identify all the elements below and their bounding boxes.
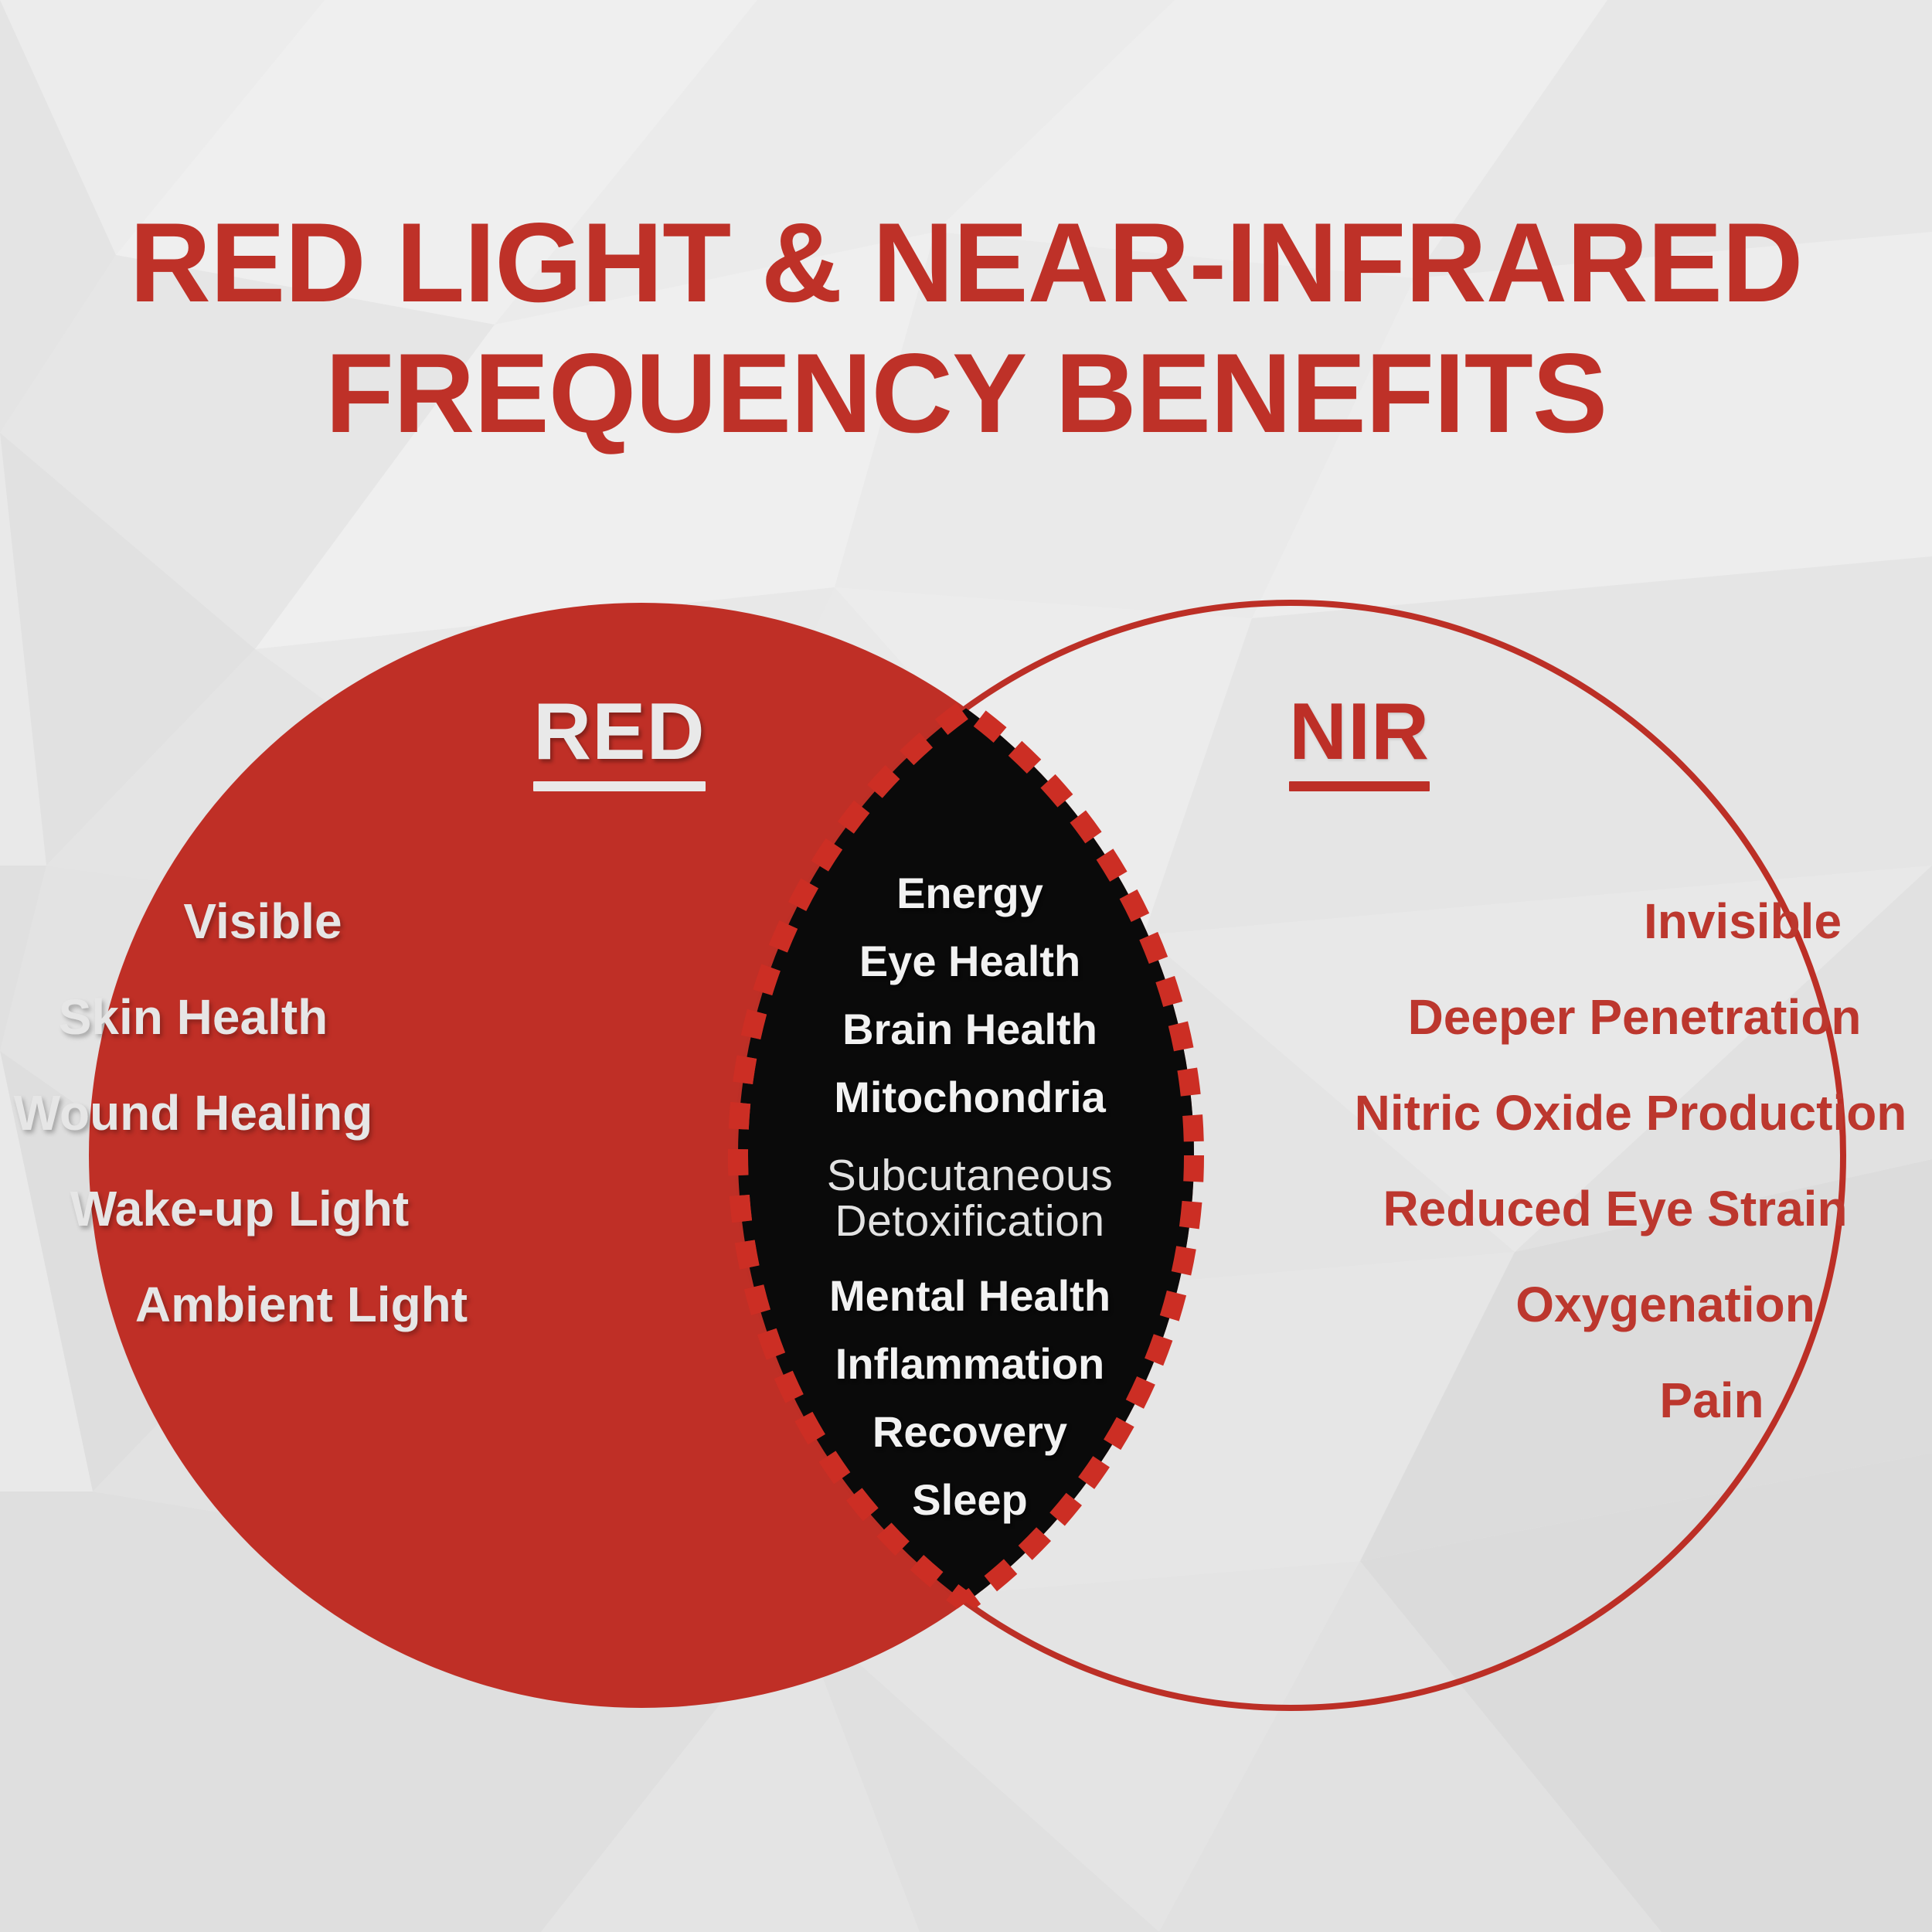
list-item: Energy — [896, 872, 1043, 915]
list-item: Sleep — [912, 1478, 1027, 1522]
list-item: Recovery — [872, 1410, 1067, 1454]
list-item: Inflammation — [835, 1342, 1104, 1386]
list-item: Brain Health — [842, 1008, 1097, 1051]
list-item: Deeper Penetration — [1408, 992, 1862, 1042]
list-item: Ambient Light — [135, 1280, 468, 1329]
shared-benefits-list: Energy Eye Health Brain Health Mitochond… — [773, 872, 1167, 1522]
list-item: Pain — [1659, 1376, 1764, 1425]
list-item: Wake-up Light — [70, 1184, 409, 1233]
page-title: RED LIGHT & NEAR-INFRARED FREQUENCY BENE… — [0, 197, 1932, 459]
list-item: Mitochondria — [834, 1076, 1106, 1119]
list-item: Visible — [183, 896, 342, 946]
list-item: Skin Health — [59, 992, 328, 1042]
list-item: Oxygenation — [1515, 1280, 1815, 1329]
red-heading-text: RED — [533, 687, 706, 777]
red-heading-underline — [533, 781, 706, 791]
red-circle-heading: RED — [533, 692, 706, 791]
nir-heading-underline — [1289, 781, 1430, 791]
infographic-canvas: RED LIGHT & NEAR-INFRARED FREQUENCY BENE… — [0, 0, 1932, 1932]
title-line-1: RED LIGHT & NEAR-INFRARED — [0, 197, 1932, 328]
list-item: Wound Healing — [14, 1088, 373, 1138]
nir-heading-text: NIR — [1289, 687, 1430, 777]
list-item: Reduced Eye Strain — [1383, 1184, 1847, 1233]
list-item: Nitric Oxide Production — [1355, 1088, 1907, 1138]
nir-circle-heading: NIR — [1289, 692, 1430, 791]
list-item: Invisible — [1644, 896, 1842, 946]
nir-only-benefits-list: Invisible Deeper Penetration Nitric Oxid… — [1159, 896, 1932, 1425]
title-line-2: FREQUENCY BENEFITS — [0, 328, 1932, 458]
list-item: Eye Health — [859, 940, 1080, 983]
list-item: Mental Health — [829, 1274, 1111, 1318]
list-item: Subcutaneous Detoxification — [773, 1153, 1167, 1243]
red-only-benefits-list: Visible Skin Health Wound Healing Wake-u… — [0, 896, 773, 1329]
